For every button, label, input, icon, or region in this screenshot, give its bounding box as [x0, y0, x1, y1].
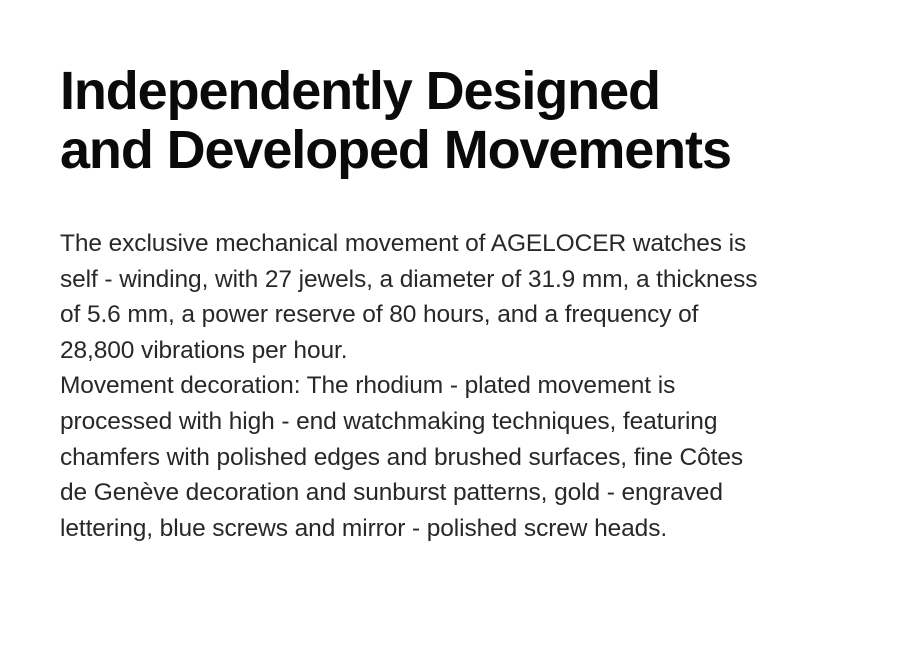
content-container: Independently Designed and Developed Mov… — [60, 62, 850, 546]
paragraph-movement-decoration: Movement decoration: The rhodium - plate… — [60, 368, 850, 546]
paragraph-movement-specs: The exclusive mechanical movement of AGE… — [60, 226, 850, 368]
page-title: Independently Designed and Developed Mov… — [60, 62, 850, 180]
body-text-block: The exclusive mechanical movement of AGE… — [60, 226, 850, 546]
marketing-page: Independently Designed and Developed Mov… — [0, 0, 900, 652]
